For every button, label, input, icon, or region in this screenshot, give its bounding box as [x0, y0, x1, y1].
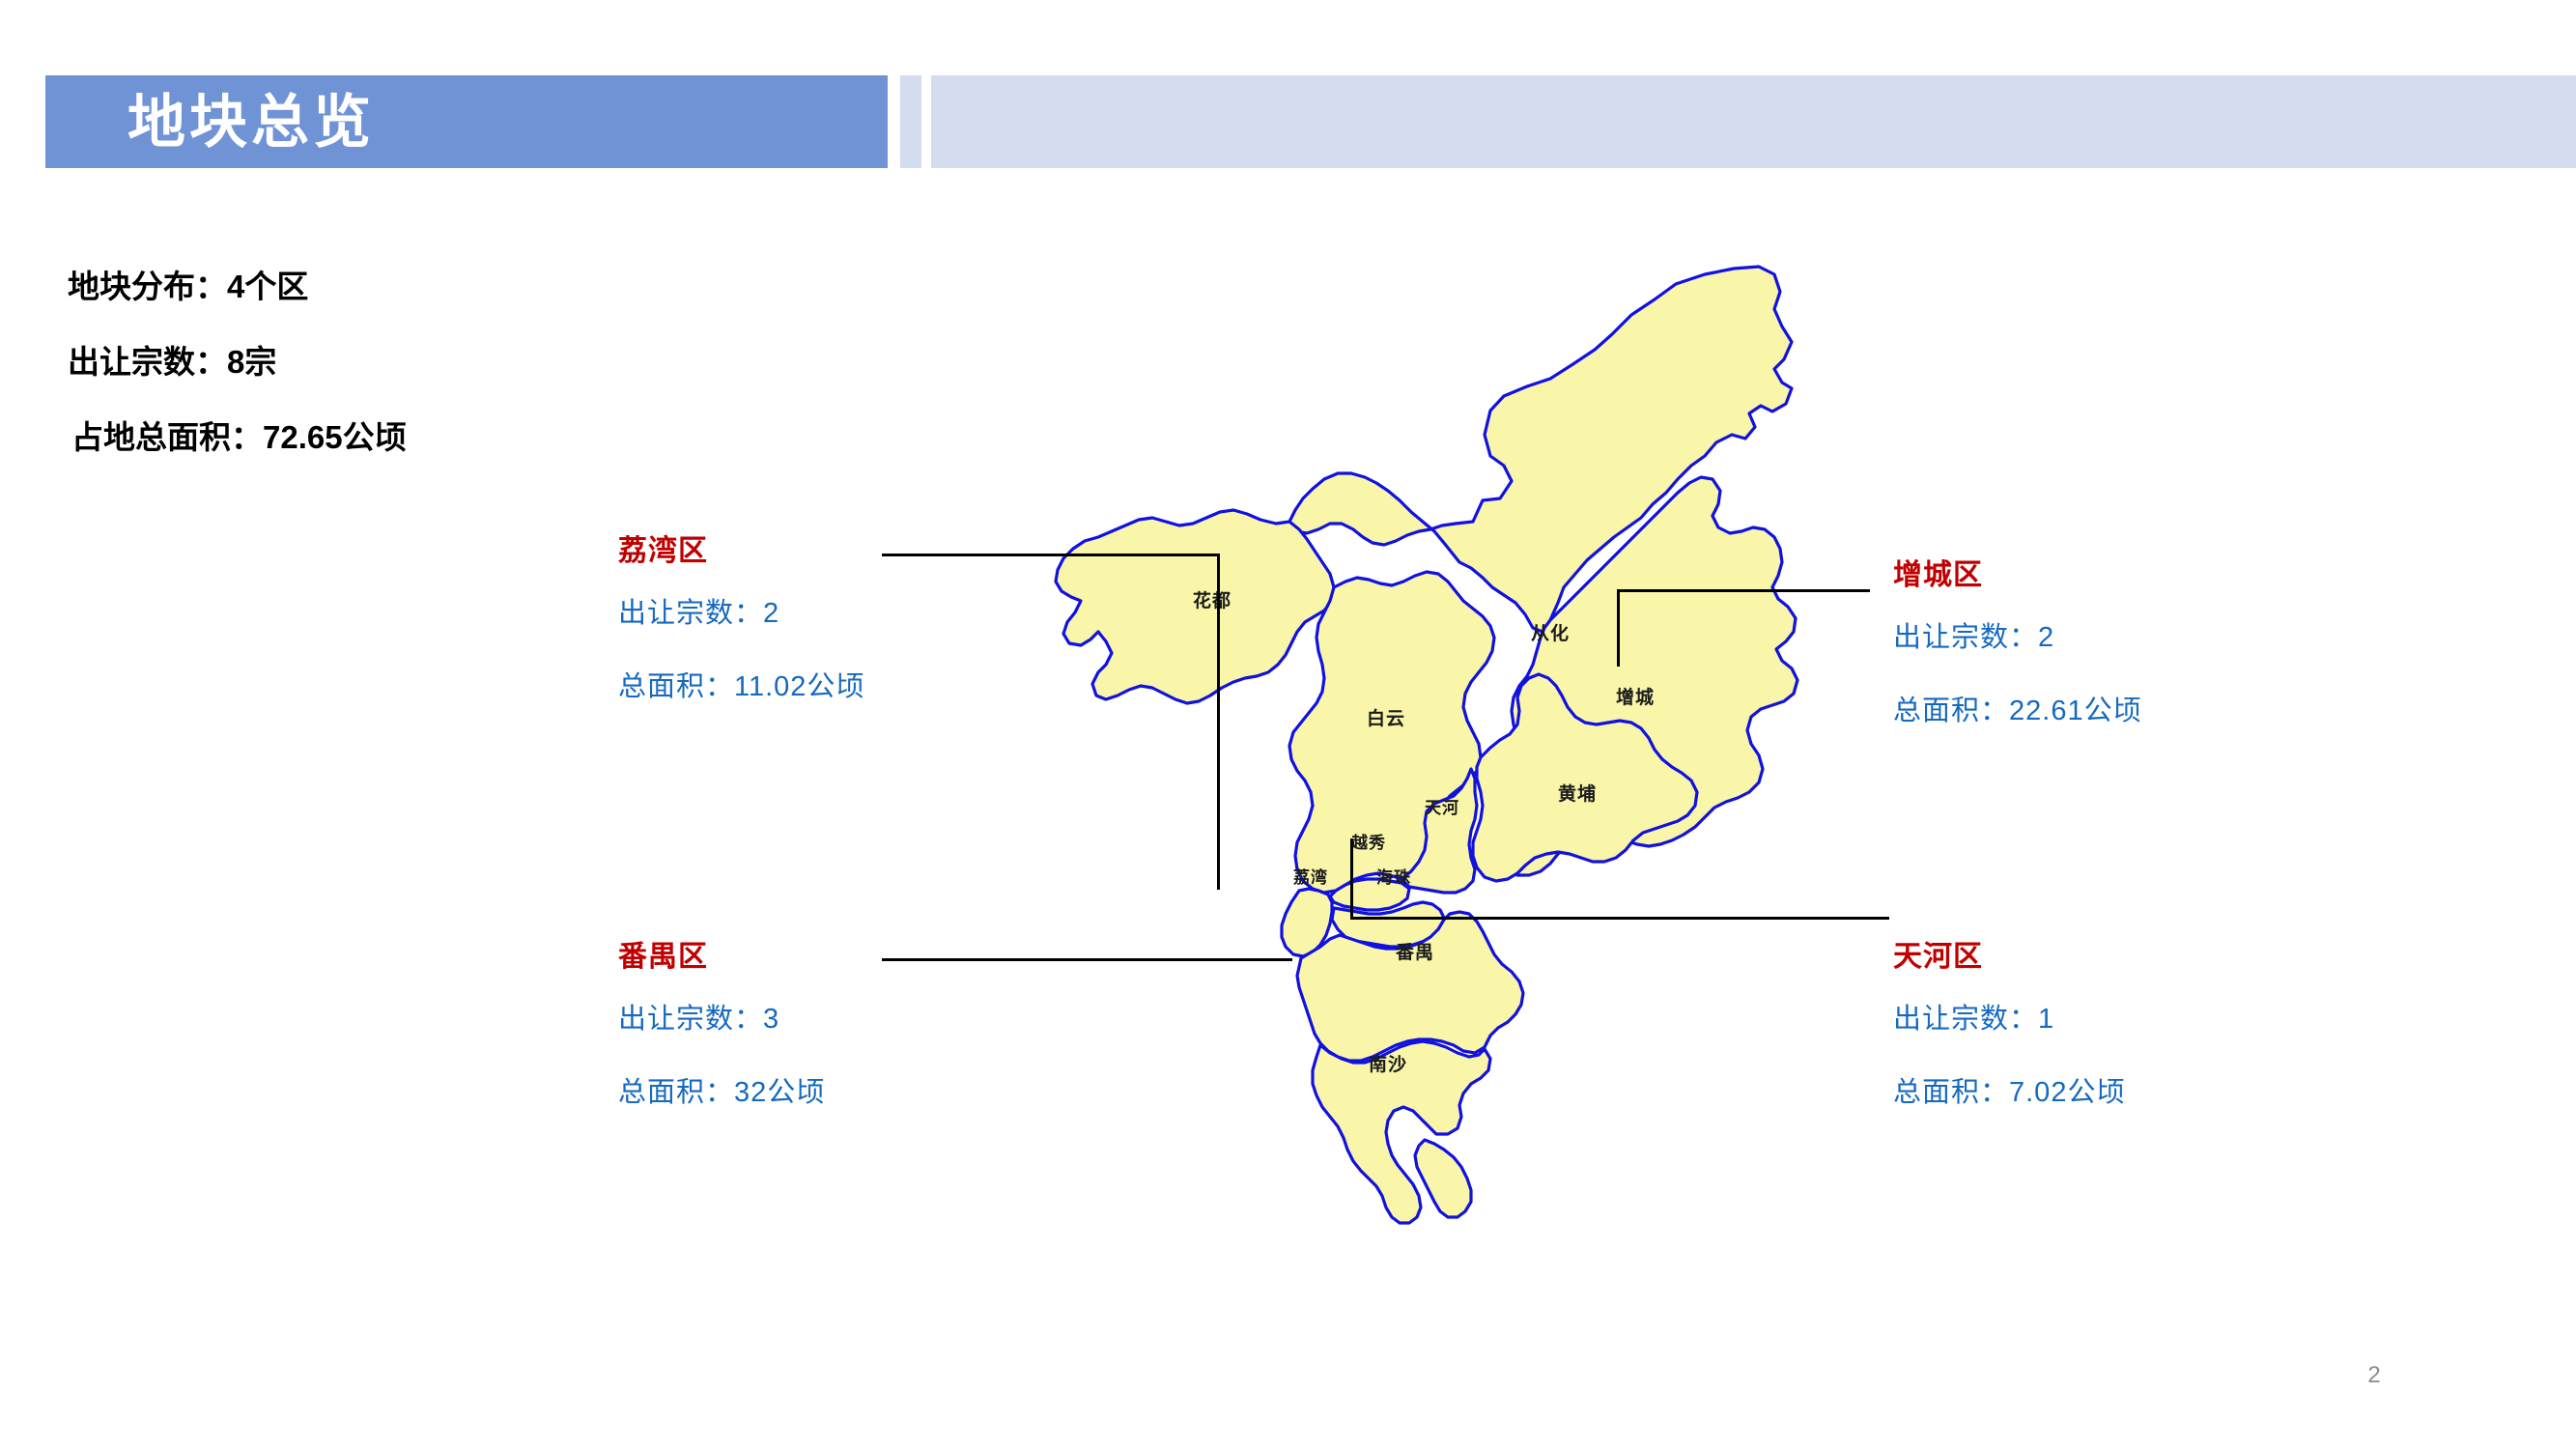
callout-panyu-area: 总面积：32公顷 [618, 1056, 825, 1129]
callout-zengcheng: 增城区 出让宗数：2 总面积：22.61公顷 [1893, 551, 2142, 748]
callout-tianhe-area: 总面积：7.02公顷 [1893, 1056, 2125, 1129]
callout-panyu-title: 番禺区 [618, 932, 825, 982]
map-region-nansha-tail [1415, 1140, 1471, 1217]
map-label-haizhu: 海珠 [1376, 867, 1411, 887]
leader-line-zengcheng-vertical [1617, 589, 1620, 667]
callout-liwan-area: 总面积：11.02公顷 [618, 650, 864, 724]
leader-line-zengcheng-horizontal [1617, 589, 1870, 592]
map-label-panyu: 番禺 [1395, 942, 1434, 963]
callout-panyu-count: 出让宗数：3 [618, 982, 825, 1056]
page-title: 地块总览 [127, 83, 804, 162]
summary-line-area: 占地总面积：72.65公顷 [68, 400, 782, 475]
callout-zengcheng-count: 出让宗数：2 [1893, 601, 2142, 674]
map-label-baiyun: 白云 [1367, 707, 1405, 729]
callout-tianhe: 天河区 出让宗数：1 总面积：7.02公顷 [1893, 932, 2125, 1129]
guangzhou-district-map: 从化 花都 增城 白云 黄埔 天河 越秀 荔湾 海珠 番禺 南沙 [1029, 241, 1850, 1265]
callout-liwan: 荔湾区 出让宗数：2 总面积：11.02公顷 [618, 526, 864, 724]
callout-zengcheng-title: 增城区 [1893, 551, 2142, 601]
header-separator-bar [900, 75, 921, 168]
callout-tianhe-count: 出让宗数：1 [1893, 982, 2125, 1056]
callout-tianhe-title: 天河区 [1893, 932, 2125, 982]
leader-line-panyu-horizontal [882, 958, 1292, 961]
leader-line-liwan-vertical [1217, 554, 1220, 890]
callout-panyu: 番禺区 出让宗数：3 总面积：32公顷 [618, 932, 825, 1129]
callout-liwan-title: 荔湾区 [618, 526, 864, 577]
summary-line-count: 出让宗数：8宗 [68, 325, 782, 400]
summary-block: 地块分布：4个区 出让宗数：8宗 占地总面积：72.65公顷 [68, 249, 782, 475]
leader-line-tianhe-vertical [1350, 838, 1353, 919]
map-label-huadu: 花都 [1193, 589, 1231, 611]
map-label-conghua: 从化 [1531, 622, 1570, 644]
leader-line-liwan-horizontal [882, 554, 1220, 556]
summary-line-distribution: 地块分布：4个区 [68, 249, 782, 325]
map-label-yuexiu: 越秀 [1350, 833, 1386, 852]
header-filler-bar [931, 75, 2576, 168]
map-label-liwan: 荔湾 [1292, 867, 1328, 887]
callout-zengcheng-area: 总面积：22.61公顷 [1893, 674, 2142, 748]
map-label-huangpu: 黄埔 [1558, 782, 1597, 805]
map-label-tianhe: 天河 [1425, 799, 1459, 817]
callout-liwan-count: 出让宗数：2 [618, 577, 864, 650]
page-number: 2 [2355, 1362, 2393, 1389]
map-label-zengcheng: 增城 [1616, 686, 1655, 708]
map-label-nansha: 南沙 [1369, 1054, 1407, 1075]
leader-line-tianhe-horizontal [1350, 917, 1889, 920]
